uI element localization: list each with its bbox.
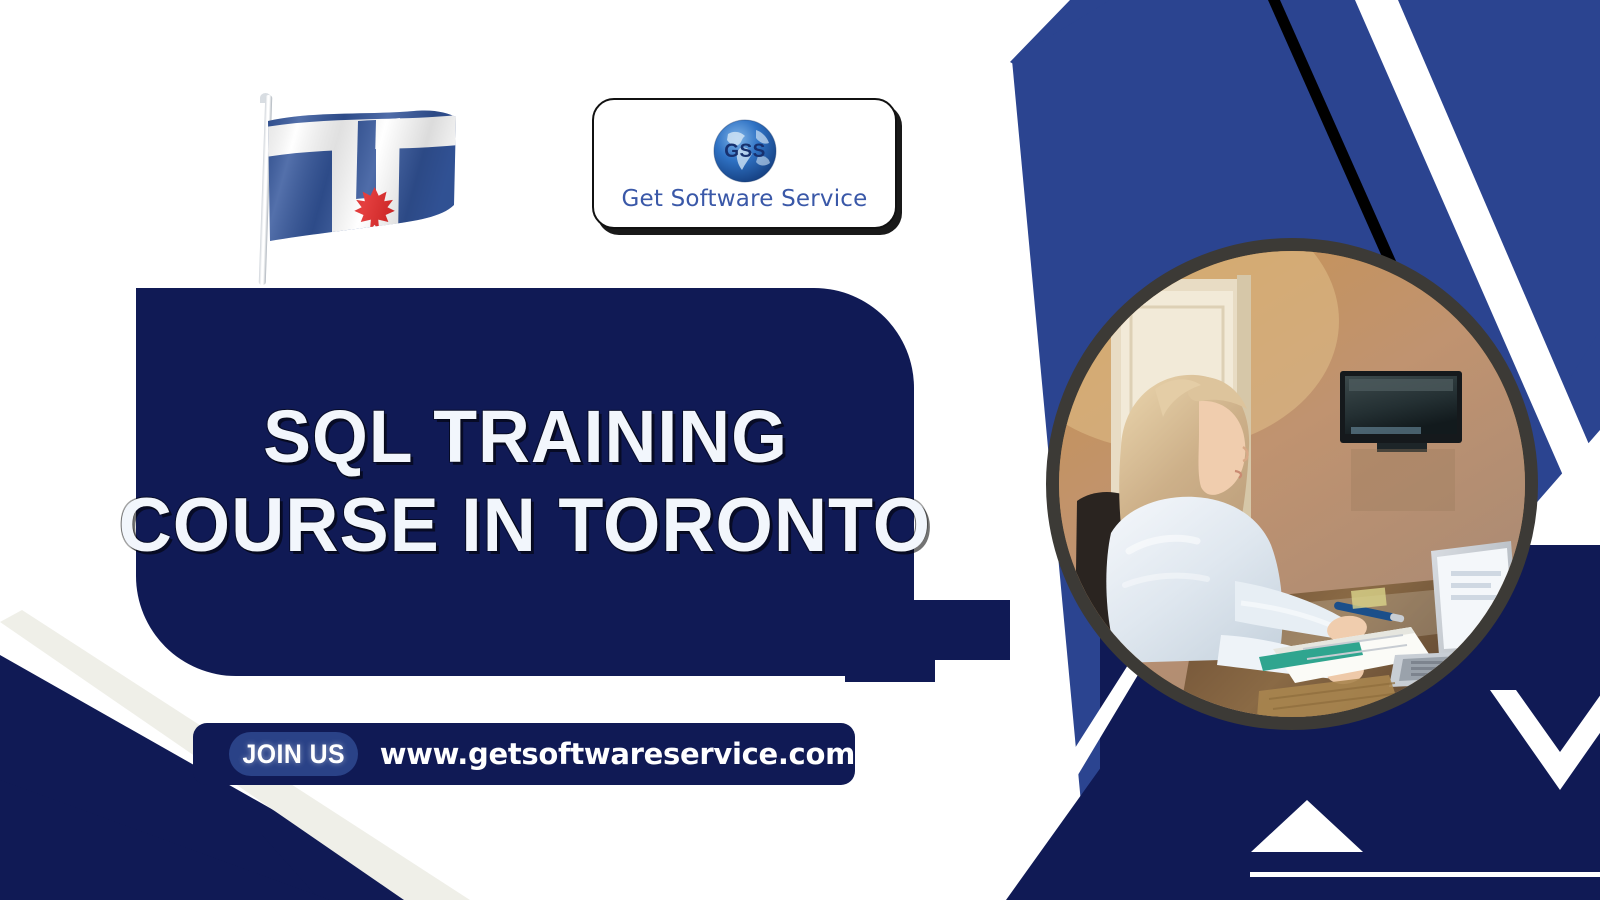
- cta-bar: JOIN US www.getsoftwareservice.com: [193, 723, 855, 785]
- svg-text:GSS: GSS: [724, 141, 766, 162]
- hero-photo-image: [1059, 251, 1525, 717]
- headline-line-1: SQL TRAINING: [263, 400, 788, 474]
- join-us-button[interactable]: JOIN US: [229, 732, 358, 776]
- toronto-flag: [248, 95, 458, 285]
- headline-panel: SQL TRAINING COURSE IN TORONTO: [136, 288, 914, 676]
- globe-icon: GSS: [712, 118, 778, 184]
- brand-logo-card[interactable]: GSS Get Software Service: [592, 98, 897, 229]
- flag-cloth-icon: [266, 109, 458, 249]
- website-url-link[interactable]: www.getsoftwareservice.com: [380, 737, 855, 771]
- join-us-label: JOIN US: [242, 739, 345, 770]
- hero-photo-circle: [1046, 238, 1538, 730]
- decor-white-hline: [1250, 872, 1600, 877]
- headline-line-2: COURSE IN TORONTO: [119, 488, 931, 564]
- banner-canvas: GSS Get Software Service SQL TRAINING CO…: [0, 0, 1600, 900]
- brand-name-text: Get Software Service: [621, 186, 867, 212]
